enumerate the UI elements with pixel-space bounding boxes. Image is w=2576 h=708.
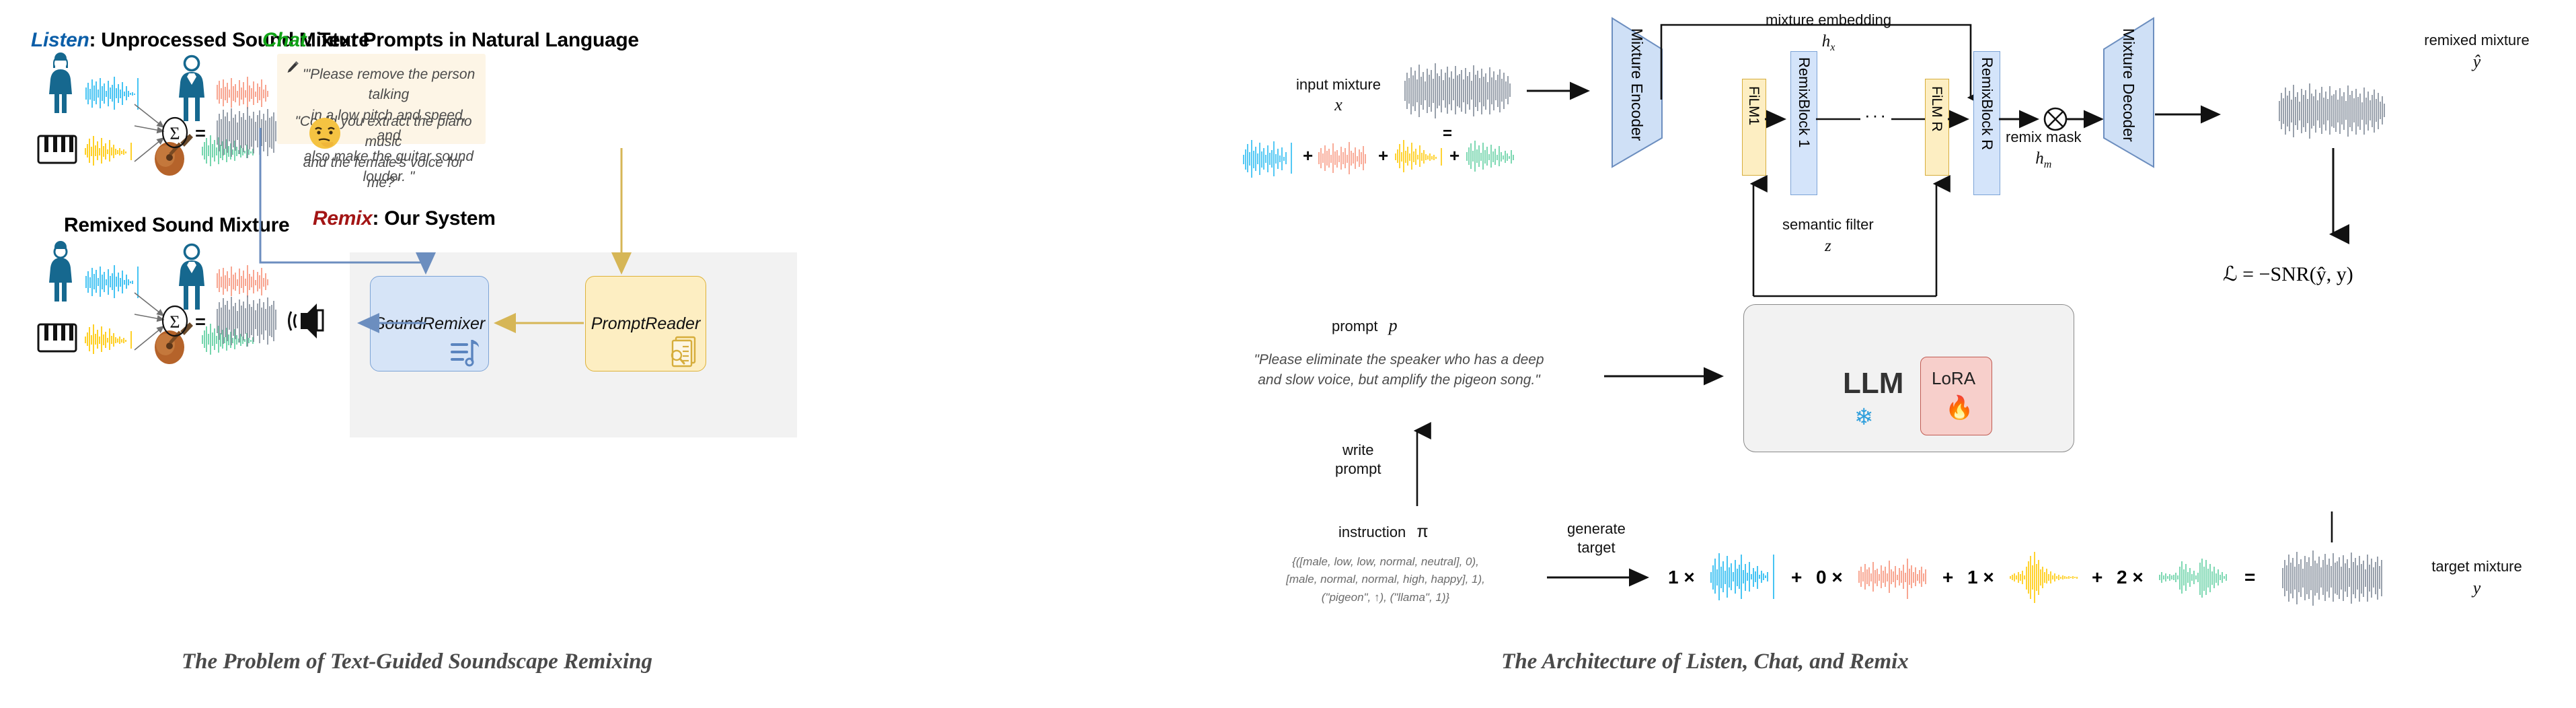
film1-box[interactable]: FiLM1 <box>1742 79 1766 176</box>
arrow-filmR-to-blockR <box>1948 111 1973 127</box>
svg-text:Σ: Σ <box>169 124 180 143</box>
remixblockR-box[interactable]: RemixBlock R <box>1973 51 2000 195</box>
coef-1: 1 × <box>1668 567 1695 588</box>
chat-heading: Chat: Text Prompts in Natural Language <box>262 29 639 52</box>
target-waveform-salmon <box>1856 546 1937 607</box>
plus-3: + <box>1449 145 1460 166</box>
llm-label: LLM <box>1843 367 1903 400</box>
remixblock1-label: RemixBlock 1 <box>1795 57 1813 147</box>
remix-mask-symbol: hm <box>2006 148 2081 172</box>
plus-1: + <box>1303 145 1313 166</box>
arrow-write-prompt <box>1409 424 1427 511</box>
llm-box[interactable] <box>1743 304 2074 452</box>
svg-text:Σ: Σ <box>169 312 180 332</box>
remixed-mixture-waveform <box>2277 74 2394 148</box>
loss-equation: ℒ = −SNR(ŷ, y) <box>2223 262 2353 286</box>
llm-to-filter-connector <box>1749 295 1944 302</box>
target-to-loss-connector <box>2324 511 2340 542</box>
input-mixture-waveform <box>1402 54 1520 128</box>
arrow-film1-to-block1 <box>1765 111 1790 127</box>
input-mixture-label: input mixture x <box>1281 75 1396 116</box>
piano-icon <box>38 136 76 163</box>
waveform-cyan-input <box>1244 140 1291 178</box>
snowflake-icon: ❄ <box>1854 404 1874 431</box>
semantic-filter-label: semantic filter z <box>1782 215 1874 256</box>
female-person-icon <box>49 52 72 113</box>
waveform-salmon-input <box>1319 142 1365 174</box>
mixture-embedding-symbol: hx <box>1766 31 1891 55</box>
left-panel-connectors <box>202 101 807 384</box>
fire-icon: 🔥 <box>1945 394 1973 421</box>
lora-box[interactable]: LoRA 🔥 <box>1920 357 1992 435</box>
remixed-mixture-label: remixed mixture ŷ <box>2404 31 2549 73</box>
right-panel-caption: The Architecture of Listen, Chat, and Re… <box>834 649 2576 674</box>
instruction-text: {([male, low, low, normal, neutral], 0),… <box>1211 553 1560 606</box>
target-mixture-waveform <box>2280 538 2394 616</box>
target-waveform-yellow <box>2008 546 2087 607</box>
mixture-embedding-label: mixture embedding hx <box>1766 11 1891 55</box>
arrow-to-encoder <box>1527 77 1601 104</box>
target-waveform-green <box>2157 546 2236 607</box>
target-waveform-cyan <box>1708 546 1786 607</box>
arrow-prompt-to-llm <box>1604 367 1732 387</box>
input-component-waveforms: + + + <box>1241 135 1544 182</box>
prompt-p-text: "Please eliminate the speaker who has a … <box>1211 350 1587 391</box>
waveform-cyan-2 <box>86 265 138 298</box>
plus-t2: + <box>1942 567 1953 588</box>
lora-label: LoRA <box>1932 368 1975 389</box>
left-panel-caption: The Problem of Text-Guided Soundscape Re… <box>0 649 834 674</box>
figure-root: Listen: Unprocessed Sound Mixture Chat: … <box>0 0 2576 708</box>
instruction-label: instruction π <box>1338 522 1429 542</box>
mixture-decoder-label: Mixture Decoder <box>2119 28 2137 156</box>
film1-label: FiLM1 <box>1745 86 1761 125</box>
plus-t1: + <box>1791 567 1802 588</box>
filmR-box[interactable]: FiLM R <box>1925 79 1949 176</box>
plus-t3: + <box>2092 567 2103 588</box>
target-mixture-label: target mixture y <box>2404 557 2549 599</box>
waveform-yellow-input <box>1396 140 1441 172</box>
coef-4: 2 × <box>2117 567 2144 588</box>
target-equals: = <box>2244 567 2255 588</box>
arrow-to-loss <box>2324 148 2344 249</box>
plus-2: + <box>1378 145 1388 166</box>
waveform-yellow-1 <box>85 136 131 166</box>
piano-icon-2 <box>38 324 76 351</box>
waveform-cyan-1 <box>84 77 138 110</box>
female-person-icon-2 <box>49 241 72 302</box>
chat-keyword: Chat <box>262 29 306 51</box>
blocks-ellipsis: ··· <box>1864 105 1888 126</box>
chat-heading-rest: : Text Prompts in Natural Language <box>306 29 638 51</box>
arrow-to-remixed <box>2155 104 2229 125</box>
generate-target-label: generate target <box>1567 520 1626 557</box>
remix-mask-label: remix mask hm <box>2006 128 2081 172</box>
arrow-generate-target <box>1547 569 1661 586</box>
coef-2: 0 × <box>1816 567 1843 588</box>
filmR-label: FiLM R <box>1928 86 1944 132</box>
waveform-green-input <box>1467 141 1513 172</box>
remixblockR-label: RemixBlock R <box>1978 57 1996 150</box>
mixture-encoder-label: Mixture Encoder <box>1628 28 1646 156</box>
waveform-yellow-2 <box>85 324 131 354</box>
coef-3: 1 × <box>1967 567 1994 588</box>
write-prompt-label: write prompt <box>1335 441 1381 478</box>
prompt-p-label: prompt p <box>1332 315 1398 337</box>
listen-keyword: Listen <box>31 29 89 51</box>
